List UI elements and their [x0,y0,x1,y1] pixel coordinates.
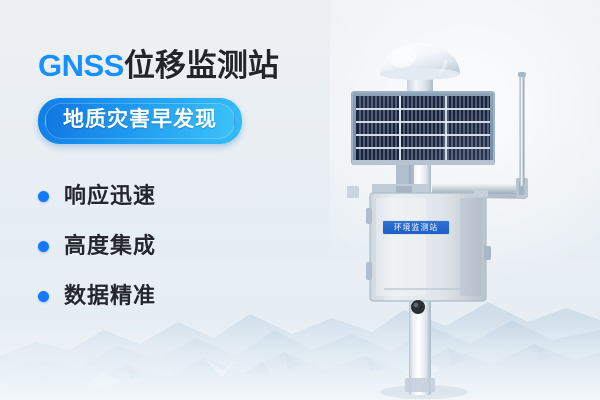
tagline-badge: 地质灾害早发现 [38,98,242,144]
bullet-dot-icon [38,241,49,252]
list-item: 响应迅速 [38,171,338,221]
title-brand: GNSS [38,48,124,83]
feature-label: 数据精准 [64,285,156,307]
gnss-dome-antenna [380,43,460,96]
feature-label: 高度集成 [64,235,156,257]
cabinet-nameplate: 环境监测站 [383,221,449,234]
sensor-knob [411,300,425,314]
whip-antenna [518,72,526,186]
cabinet-nameplate-text: 环境监测站 [394,224,439,232]
bullet-dot-icon [38,191,49,202]
promo-banner: 环境监测站 GNSS位移监测站 地质灾害早发现 响应迅速 高度集成 数据精准 [0,0,600,400]
tagline-badge-inner: 地质灾害早发现 [45,103,235,139]
title-suffix: 位移监测站 [124,48,279,83]
tagline-badge-text: 地质灾害早发现 [63,108,217,132]
bullet-dot-icon [38,291,49,302]
list-item: 高度集成 [38,221,338,271]
feature-list: 响应迅速 高度集成 数据精准 [38,171,338,321]
control-cabinet [366,190,491,301]
mast-base [405,378,435,392]
list-item: 数据精准 [38,271,338,321]
headline-block: GNSS位移监测站 地质灾害早发现 响应迅速 高度集成 数据精准 [38,50,338,321]
page-title: GNSS位移监测站 [38,50,338,81]
feature-label: 响应迅速 [64,185,156,207]
